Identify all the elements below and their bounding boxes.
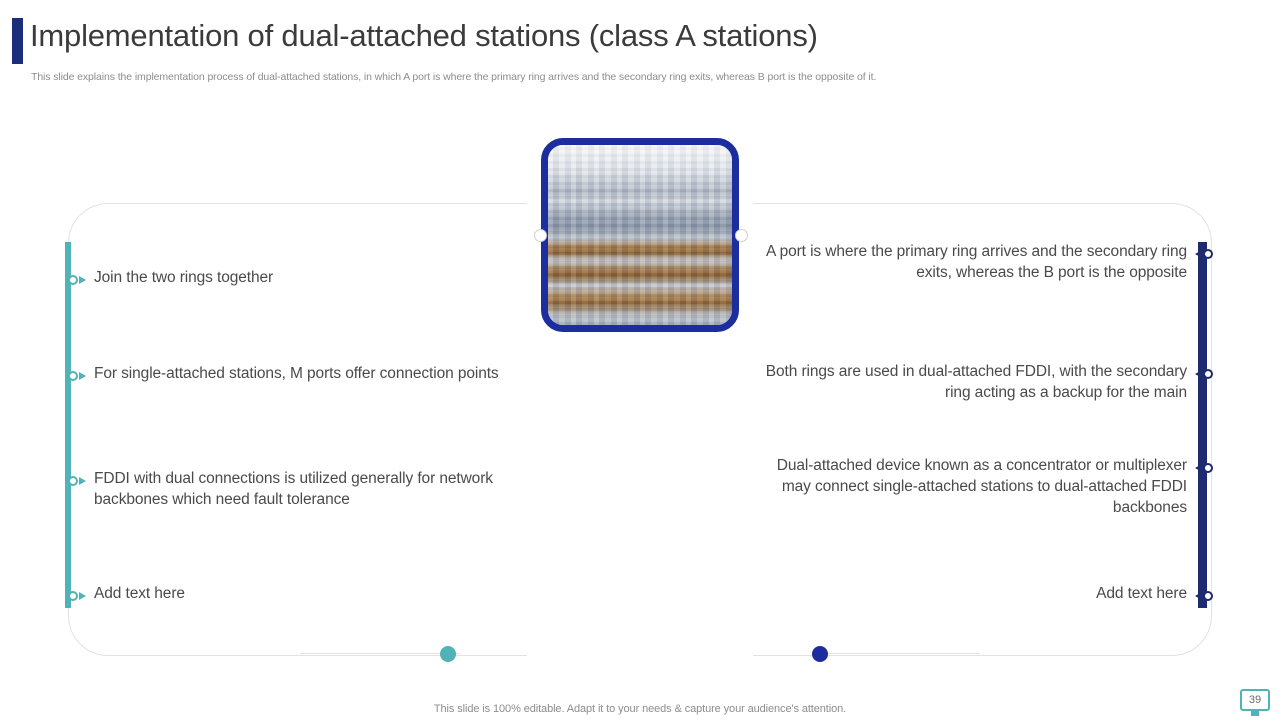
list-item-label: Join the two rings together xyxy=(94,267,273,288)
list-item[interactable]: FDDI with dual connections is utilized g… xyxy=(68,468,523,510)
page-subtitle: This slide explains the implementation p… xyxy=(31,71,876,83)
slide-number: 39 xyxy=(1249,694,1261,706)
circle-arrow-right-icon xyxy=(68,271,88,289)
circle-arrow-left-icon xyxy=(1193,365,1213,383)
list-item[interactable]: A port is where the primary ring arrives… xyxy=(758,241,1213,283)
list-item[interactable]: Dual-attached device known as a concentr… xyxy=(758,455,1213,518)
title-accent-bar xyxy=(12,18,23,64)
circle-arrow-left-icon xyxy=(1193,245,1213,263)
circle-arrow-right-icon xyxy=(68,367,88,385)
list-item[interactable]: Join the two rings together xyxy=(68,267,523,289)
list-item[interactable]: Add text here xyxy=(758,583,1213,605)
list-item-label: Add text here xyxy=(1096,583,1187,604)
warehouse-interior-image xyxy=(548,145,732,325)
slide-canvas: Implementation of dual-attached stations… xyxy=(0,0,1280,720)
list-item[interactable]: Both rings are used in dual-attached FDD… xyxy=(758,361,1213,403)
list-item-label: Both rings are used in dual-attached FDD… xyxy=(762,361,1187,403)
photo-connector-node-right xyxy=(735,229,748,242)
circle-arrow-left-icon xyxy=(1193,459,1213,477)
list-item-label: A port is where the primary ring arrives… xyxy=(762,241,1187,283)
list-item-label: For single-attached stations, M ports of… xyxy=(94,363,499,384)
circle-arrow-right-icon xyxy=(68,587,88,605)
page-title: Implementation of dual-attached stations… xyxy=(30,18,818,54)
list-item-label: FDDI with dual connections is utilized g… xyxy=(94,468,519,510)
right-bullet-list: A port is where the primary ring arrives… xyxy=(753,203,1213,656)
circle-arrow-left-icon xyxy=(1193,587,1213,605)
list-item[interactable]: Add text here xyxy=(68,583,523,605)
circle-arrow-right-icon xyxy=(68,472,88,490)
footer-note: This slide is 100% editable. Adapt it to… xyxy=(0,703,1280,715)
photo-connector-node-left xyxy=(534,229,547,242)
center-photo xyxy=(541,138,739,332)
monitor-stand-icon xyxy=(1251,711,1259,716)
list-item-label: Dual-attached device known as a concentr… xyxy=(762,455,1187,518)
list-item[interactable]: For single-attached stations, M ports of… xyxy=(68,363,523,385)
list-item-label: Add text here xyxy=(94,583,185,604)
slide-number-badge: 39 xyxy=(1240,689,1270,711)
left-bullet-list: Join the two rings together For single-a… xyxy=(68,203,528,656)
